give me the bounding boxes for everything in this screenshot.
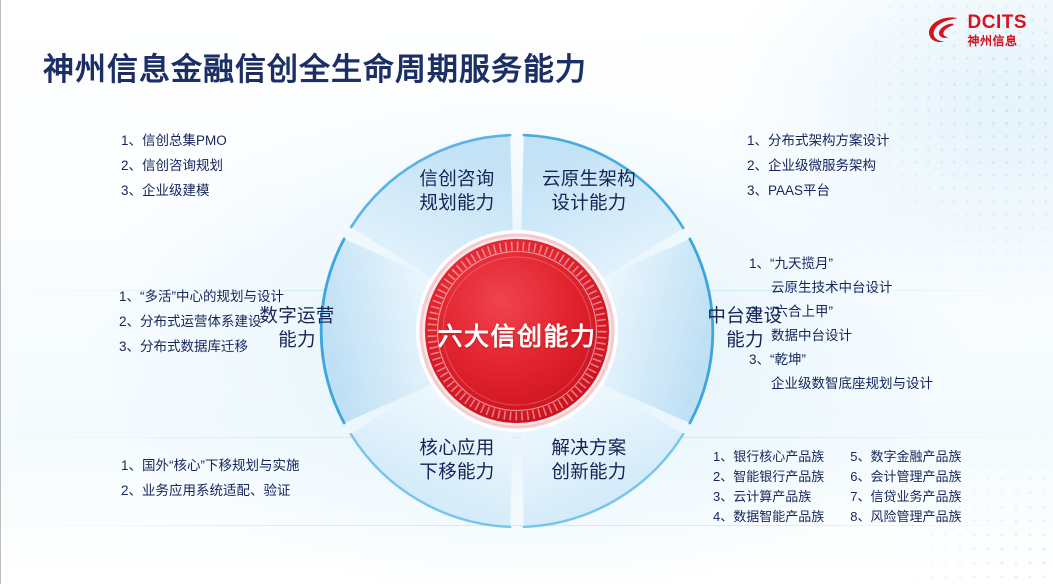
segment-label-line2: 创新能力	[529, 460, 649, 484]
segment-label-line1: 云原生架构	[529, 167, 649, 191]
note-item: 2、企业级微服务架构	[747, 153, 890, 178]
segment-label-line1: 解决方案	[529, 436, 649, 460]
note-item: 3、企业级建模	[121, 178, 227, 203]
note-item: 1、“九天揽月”	[749, 252, 933, 276]
note-item: 5、数字金融产品族	[850, 447, 961, 467]
brand-name-cn: 神州信息	[968, 35, 1028, 47]
segment-label-line2: 设计能力	[529, 191, 649, 215]
segment-label-line2: 规划能力	[397, 191, 517, 215]
note-block-core-app: 1、国外“核心”下移规划与实施 2、业务应用系统适配、验证	[121, 453, 300, 503]
note-item: 1、国外“核心”下移规划与实施	[121, 453, 300, 478]
note-item: 8、风险管理产品族	[850, 507, 961, 527]
brand-logo-text: DCITS 神州信息	[968, 13, 1028, 47]
segment-label-solution: 解决方案 创新能力	[529, 436, 649, 484]
note-item: 1、信创总集PMO	[121, 128, 227, 153]
segment-label-core-app: 核心应用 下移能力	[397, 436, 517, 484]
note-item: 7、信贷业务产品族	[850, 487, 961, 507]
dcits-swoosh-icon	[927, 15, 961, 45]
segment-label-line2: 下移能力	[397, 460, 517, 484]
page-title: 神州信息金融信创全生命周期服务能力	[43, 44, 587, 89]
note-block-solution: 1、银行核心产品族 2、智能银行产品族 3、云计算产品族 4、数据智能产品族 5…	[713, 447, 961, 527]
capability-donut-diagram: 信创咨询 规划能力 云原生架构 设计能力 中台建设 能力 解决方案 创新能力 核…	[293, 131, 741, 531]
brand-logo: DCITS 神州信息	[927, 13, 1028, 47]
note-subitem: 云原生技术中台设计	[749, 276, 933, 300]
note-block-consulting: 1、信创总集PMO 2、信创咨询规划 3、企业级建模	[121, 128, 227, 203]
note-item: 3、PAAS平台	[747, 178, 890, 203]
core-label: 六大信创能力	[293, 317, 741, 353]
segment-label-consulting: 信创咨询 规划能力	[397, 167, 517, 215]
note-item: 6、会计管理产品族	[850, 467, 961, 487]
note-subitem: 企业级数智底座规划与设计	[749, 372, 933, 396]
note-column-right: 5、数字金融产品族 6、会计管理产品族 7、信贷业务产品族 8、风险管理产品族	[850, 447, 961, 527]
segment-label-line1: 核心应用	[397, 436, 517, 460]
slide-canvas: 神州信息金融信创全生命周期服务能力 DCITS 神州信息 1、信创总集PMO 2…	[0, 0, 1053, 584]
brand-name-en: DCITS	[968, 13, 1028, 32]
segment-label-cloud-native: 云原生架构 设计能力	[529, 167, 649, 215]
note-item: 2、业务应用系统适配、验证	[121, 478, 300, 503]
note-block-cloud-native: 1、分布式架构方案设计 2、企业级微服务架构 3、PAAS平台	[747, 128, 890, 203]
segment-label-line1: 信创咨询	[397, 167, 517, 191]
note-item: 2、信创咨询规划	[121, 153, 227, 178]
note-item: 1、分布式架构方案设计	[747, 128, 890, 153]
